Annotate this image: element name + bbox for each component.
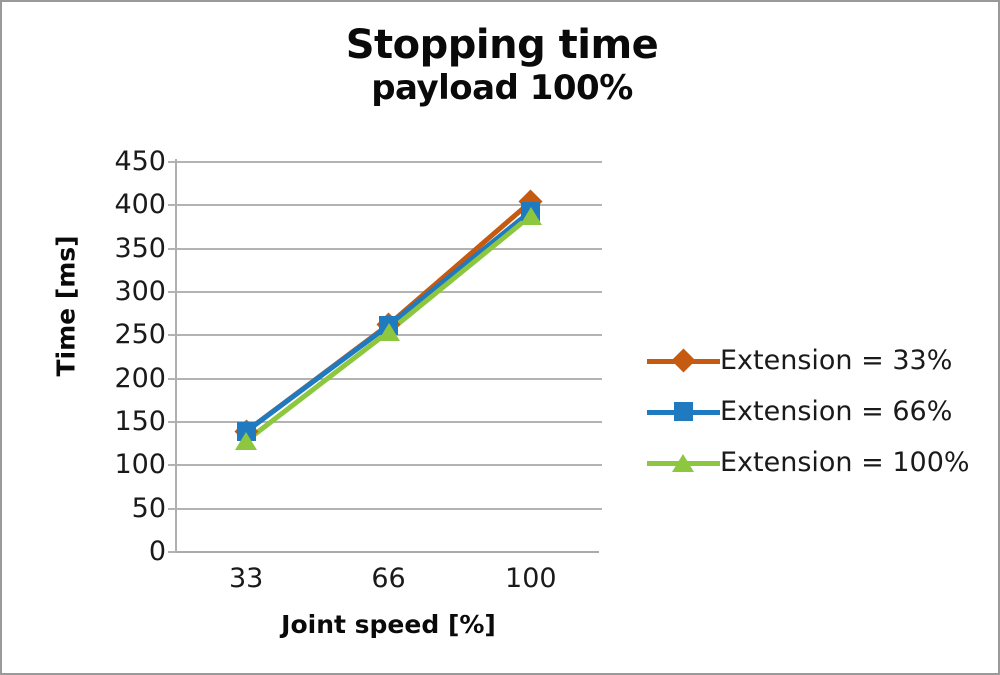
y-axis-tick-label: 100 [96,451,166,478]
legend-item[interactable]: Extension = 33% [647,335,992,386]
y-axis-tick [168,291,175,293]
legend-key-marker [683,412,693,422]
y-axis-tick [168,508,175,510]
diamond-marker-icon [671,348,695,372]
legend-key-swatch [647,400,720,424]
triangle-marker-icon [235,432,257,450]
y-axis-tick-label: 50 [96,495,166,522]
y-axis-tick-labels: 450400350300250200150100500 [92,161,166,551]
y-axis-tick-label: 300 [96,278,166,305]
y-axis-tick-label: 200 [96,365,166,392]
y-axis-tick [168,421,175,423]
y-axis-tick-label: 0 [96,538,166,565]
y-axis-tick [168,204,175,206]
y-axis-tick [168,161,175,163]
x-axis-title: Joint speed [%] [175,610,602,639]
y-axis-tick-label: 250 [96,321,166,348]
legend-key-swatch [647,451,720,475]
square-marker-icon [674,402,693,421]
legend-item[interactable]: Extension = 66% [647,386,992,437]
legend-item[interactable]: Extension = 100% [647,437,992,488]
x-axis-tick-label: 100 [476,565,586,592]
chart-subtitle: payload 100% [122,69,882,107]
triangle-marker-icon [378,323,400,341]
legend-key-marker [683,361,692,370]
chart-figure: Stopping time payload 100% Time [ms] 450… [0,0,1000,675]
legend-key-marker [683,463,694,472]
x-axis-tick-label: 33 [191,565,301,592]
y-axis-tick [168,248,175,250]
y-axis-tick-label: 450 [96,148,166,175]
triangle-marker-icon [520,207,542,225]
legend-item-label: Extension = 33% [720,347,952,374]
y-axis-tick [168,334,175,336]
chart-title-block: Stopping time payload 100% [122,24,882,107]
y-axis-tick [168,464,175,466]
chart-legend: Extension = 33%Extension = 66%Extension … [647,335,992,488]
legend-item-label: Extension = 100% [720,449,970,476]
chart-title: Stopping time [122,24,882,67]
y-axis-title: Time [ms] [52,237,81,377]
series-markers [175,161,602,551]
y-axis-tick-label: 400 [96,191,166,218]
triangle-marker-icon [672,454,694,472]
x-axis-tick-label: 66 [334,565,444,592]
x-axis-tick-labels: 3366100 [175,565,602,599]
y-axis-tick-label: 350 [96,235,166,262]
y-axis-tick [168,378,175,380]
y-axis-tick [168,551,175,553]
legend-item-label: Extension = 66% [720,398,952,425]
legend-key-swatch [647,349,720,373]
y-axis-tick-label: 150 [96,408,166,435]
